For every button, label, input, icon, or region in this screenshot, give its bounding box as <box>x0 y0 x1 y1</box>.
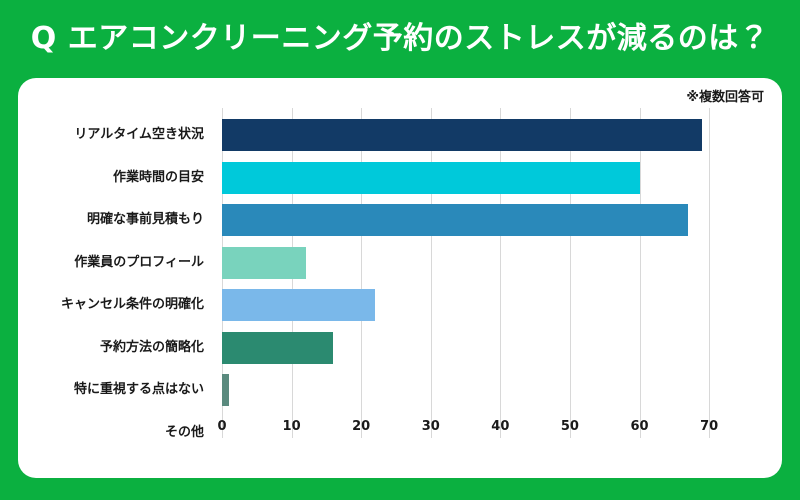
x-tick-label: 50 <box>561 420 579 433</box>
x-tick-label: 70 <box>700 420 718 433</box>
category-label: その他 <box>18 426 204 439</box>
x-axis: 010203040506070 <box>204 408 738 442</box>
poster-root: Q エアコンクリーニング予約のストレスが減るのは？ ※複数回答可 リアルタイム空… <box>0 0 800 500</box>
category-label: 作業時間の目安 <box>18 171 204 184</box>
x-tick-label: 40 <box>491 420 509 433</box>
bar <box>222 289 375 321</box>
chart-card: ※複数回答可 リアルタイム空き状況作業時間の目安明確な事前見積もり作業員のプロフ… <box>18 78 782 478</box>
category-label: 予約方法の簡略化 <box>18 341 204 354</box>
gridline-20 <box>361 108 362 438</box>
title-bar: Q エアコンクリーニング予約のストレスが減るのは？ <box>0 0 800 78</box>
bar <box>222 247 306 279</box>
x-tick-label: 10 <box>283 420 301 433</box>
category-label: 明確な事前見積もり <box>18 213 204 226</box>
bar <box>222 204 688 236</box>
x-tick-label: 30 <box>422 420 440 433</box>
bar <box>222 332 333 364</box>
gridline-60 <box>640 108 641 438</box>
category-labels: リアルタイム空き状況作業時間の目安明確な事前見積もり作業員のプロフィールキャンセ… <box>18 108 204 438</box>
bar <box>222 162 640 194</box>
gridline-70 <box>709 108 710 438</box>
bar <box>222 119 702 151</box>
category-label: キャンセル条件の明確化 <box>18 298 204 311</box>
multiple-answers-note: ※複数回答可 <box>686 86 764 105</box>
gridline-50 <box>570 108 571 438</box>
x-tick-label: 0 <box>217 420 226 433</box>
page-title: Q エアコンクリーニング予約のストレスが減るのは？ <box>31 24 769 54</box>
x-tick-label: 60 <box>630 420 648 433</box>
bars-area <box>204 108 738 438</box>
x-tick-label: 20 <box>352 420 370 433</box>
category-label: 特に重視する点はない <box>18 383 204 396</box>
bar <box>222 374 229 406</box>
category-label: 作業員のプロフィール <box>18 256 204 269</box>
gridline-30 <box>431 108 432 438</box>
gridline-40 <box>500 108 501 438</box>
category-label: リアルタイム空き状況 <box>18 128 204 141</box>
